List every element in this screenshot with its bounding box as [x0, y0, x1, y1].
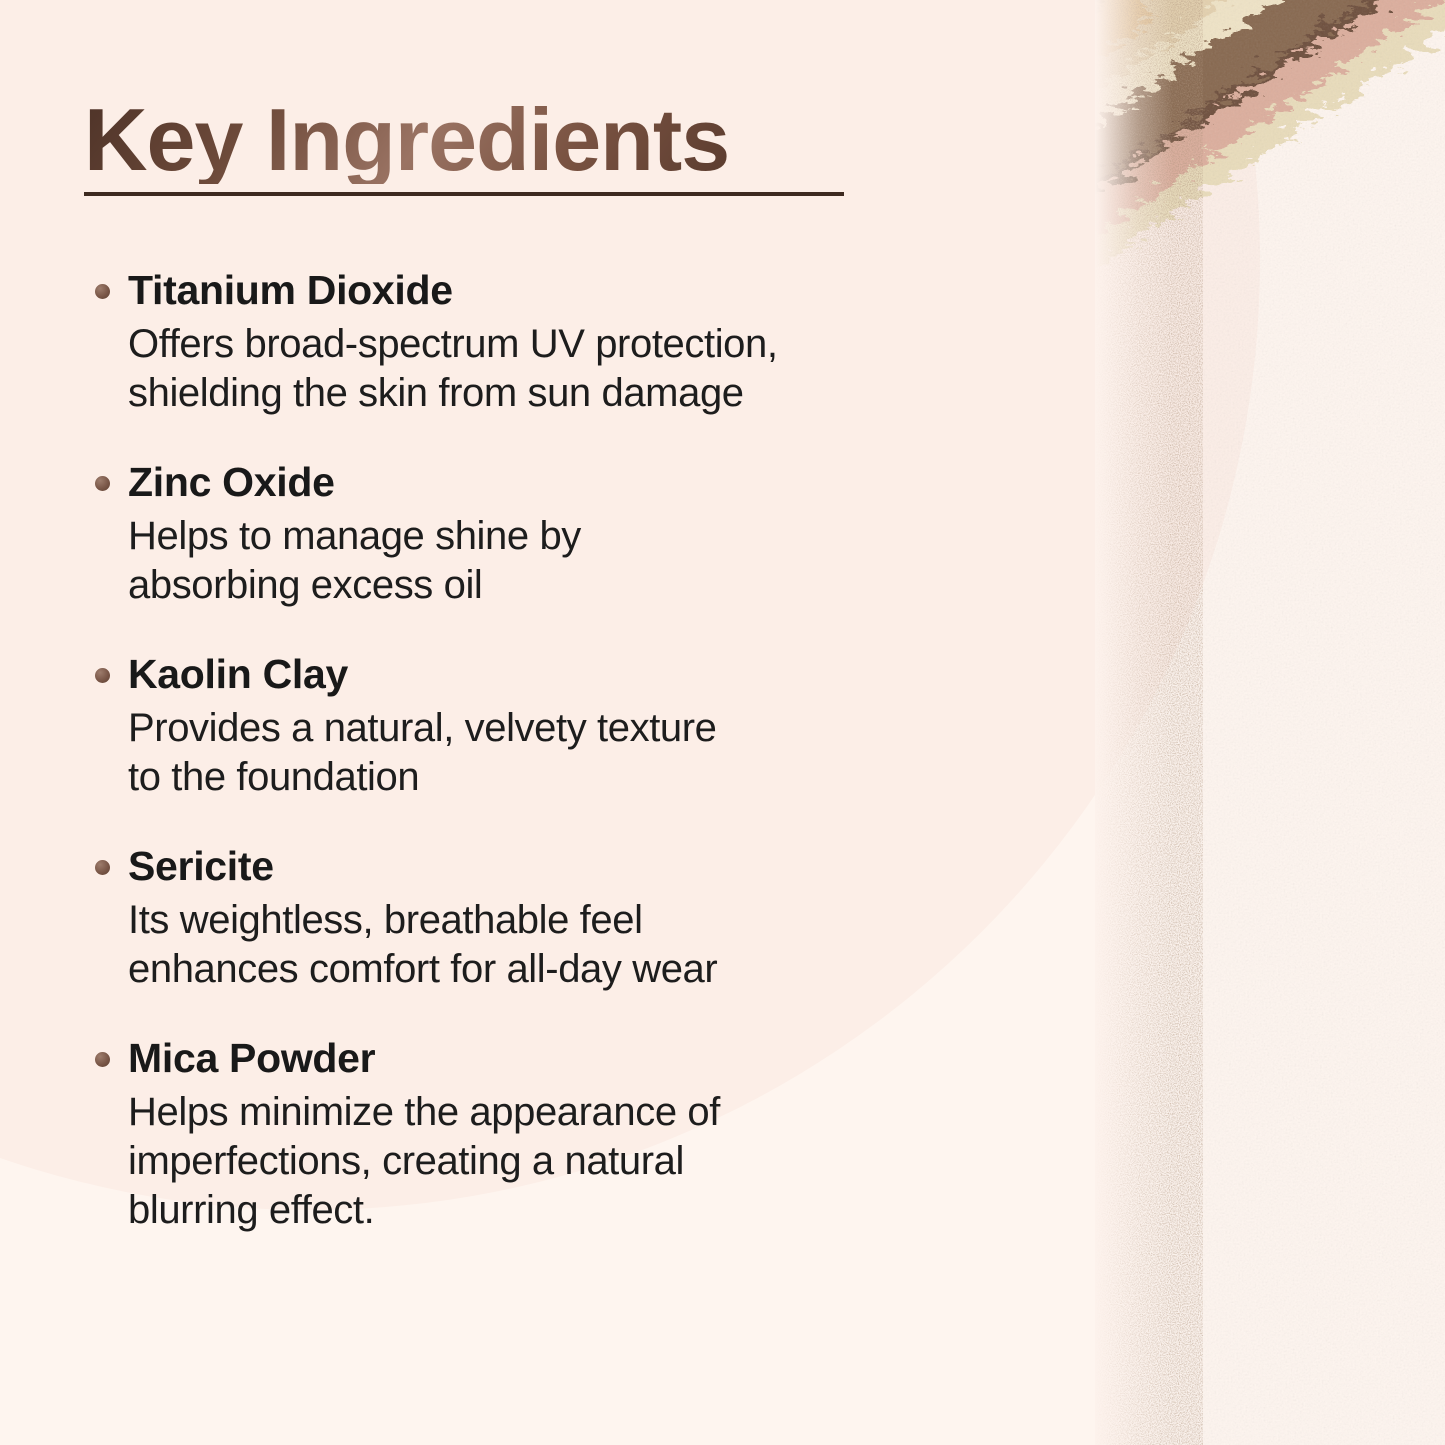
ingredient-name: Zinc Oxide: [128, 458, 984, 506]
ingredient-name: Titanium Dioxide: [128, 266, 984, 314]
title-underline: [84, 192, 844, 196]
ingredient-description: Its weightless, breathable feel enhances…: [128, 896, 984, 994]
list-item: Titanium Dioxide Offers broad-spectrum U…: [84, 266, 984, 418]
list-item: Sericite Its weightless, breathable feel…: [84, 842, 984, 994]
ingredient-description: Helps to manage shine by absorbing exces…: [128, 512, 984, 610]
key-ingredients-infographic: Key Ingredients Titanium Dioxide Offers …: [0, 0, 1445, 1445]
ingredient-list: Titanium Dioxide Offers broad-spectrum U…: [84, 266, 984, 1235]
ingredient-name: Mica Powder: [128, 1034, 984, 1082]
powder-left-fade: [1095, 0, 1173, 1445]
bullet-dot-icon: [95, 476, 110, 491]
content-column: Key Ingredients Titanium Dioxide Offers …: [84, 96, 984, 1235]
ingredient-name: Kaolin Clay: [128, 650, 984, 698]
page-title-wrapper: Key Ingredients: [84, 96, 729, 196]
ingredient-description: Offers broad-spectrum UV protection, shi…: [128, 320, 984, 418]
list-item: Mica Powder Helps minimize the appearanc…: [84, 1034, 984, 1235]
ingredient-description: Helps minimize the appearance of imperfe…: [128, 1088, 984, 1234]
bullet-dot-icon: [95, 1052, 110, 1067]
crushed-powder-image: [1095, 0, 1445, 1445]
bullet-dot-icon: [95, 860, 110, 875]
list-item: Kaolin Clay Provides a natural, velvety …: [84, 650, 984, 802]
ingredient-description: Provides a natural, velvety texture to t…: [128, 704, 984, 802]
ingredient-name: Sericite: [128, 842, 984, 890]
bullet-dot-icon: [95, 284, 110, 299]
page-title: Key Ingredients: [84, 96, 729, 184]
bullet-dot-icon: [95, 668, 110, 683]
powder-swatch-illustration: [1095, 0, 1445, 1445]
list-item: Zinc Oxide Helps to manage shine by abso…: [84, 458, 984, 610]
